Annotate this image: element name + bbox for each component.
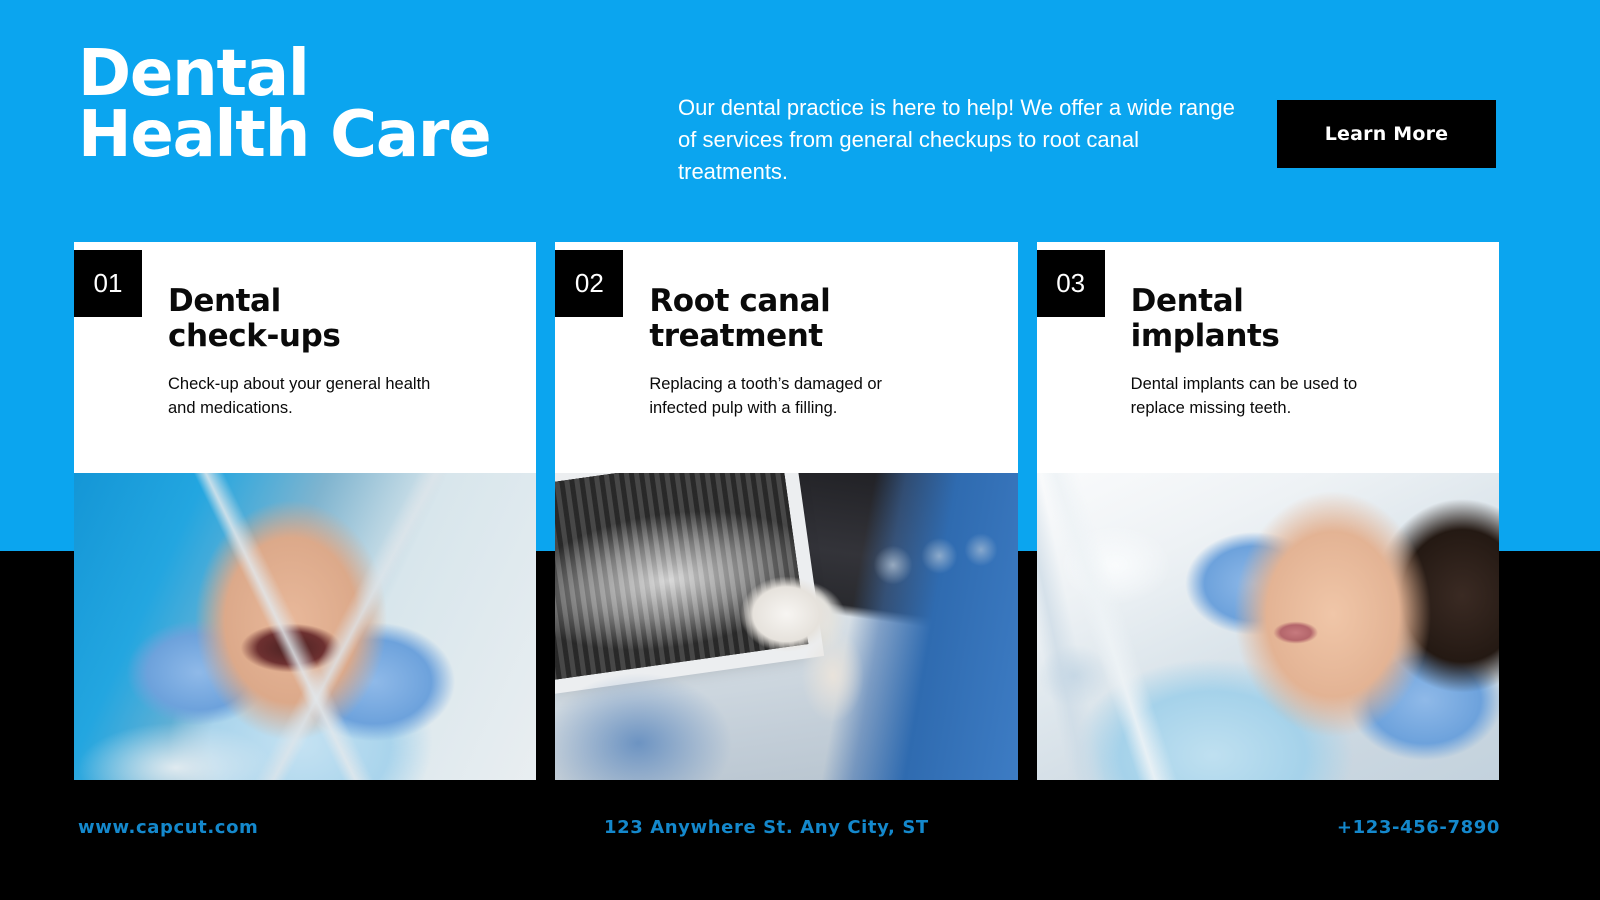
card-photo-dental-checkup — [74, 473, 536, 780]
card-heading-line-2: check-ups — [168, 319, 498, 354]
footer-website-link[interactable]: www.capcut.com — [78, 817, 258, 838]
card-number-badge: 03 — [1037, 250, 1105, 317]
learn-more-button[interactable]: Learn More — [1277, 100, 1496, 168]
card-description: Check-up about your general health and m… — [168, 373, 508, 421]
service-cards-row: 01 Dental check-ups Check-up about your … — [74, 242, 1499, 780]
service-card-dental-checkups[interactable]: 01 Dental check-ups Check-up about your … — [74, 242, 536, 780]
card-number-badge: 01 — [74, 250, 142, 317]
card-heading: Dental check-ups — [168, 284, 498, 354]
card-text-panel: 02 Root canal treatment Replacing a toot… — [555, 242, 1017, 473]
header: Dental Health Care Our dental practice i… — [0, 0, 1600, 240]
card-heading-line-1: Dental — [168, 284, 498, 319]
card-description-line-2: infected pulp with a filling. — [649, 397, 989, 421]
card-heading-line-2: treatment — [649, 319, 979, 354]
card-heading-line-1: Dental — [1131, 284, 1461, 319]
footer: www.capcut.com 123 Anywhere St. Any City… — [0, 805, 1600, 865]
card-heading: Root canal treatment — [649, 284, 979, 354]
hero-subtitle: Our dental practice is here to help! We … — [678, 92, 1238, 188]
dental-checkup-illustration — [74, 473, 536, 780]
card-text-panel: 01 Dental check-ups Check-up about your … — [74, 242, 536, 473]
page-title-line-2: Health Care — [78, 105, 698, 166]
card-description-line-1: Replacing a tooth’s damaged or — [649, 373, 989, 397]
card-heading-line-2: implants — [1131, 319, 1461, 354]
service-card-dental-implants[interactable]: 03 Dental implants Dental implants can b… — [1037, 242, 1499, 780]
page-title-line-1: Dental — [78, 44, 698, 105]
dental-xray-illustration — [555, 473, 1017, 780]
card-description-line-2: and medications. — [168, 397, 508, 421]
footer-phone[interactable]: +123-456-7890 — [1337, 817, 1500, 838]
card-description-line-2: replace missing teeth. — [1131, 397, 1471, 421]
card-heading-line-1: Root canal — [649, 284, 979, 319]
card-description: Dental implants can be used to replace m… — [1131, 373, 1471, 421]
dental-implant-illustration — [1037, 473, 1499, 780]
card-heading: Dental implants — [1131, 284, 1461, 354]
poster-canvas: Dental Health Care Our dental practice i… — [0, 0, 1600, 900]
card-photo-dental-implant — [1037, 473, 1499, 780]
service-card-root-canal[interactable]: 02 Root canal treatment Replacing a toot… — [555, 242, 1017, 780]
card-photo-dental-xray — [555, 473, 1017, 780]
card-description: Replacing a tooth’s damaged or infected … — [649, 373, 989, 421]
card-description-line-1: Check-up about your general health — [168, 373, 508, 397]
card-description-line-1: Dental implants can be used to — [1131, 373, 1471, 397]
page-title: Dental Health Care — [78, 44, 698, 166]
card-number-badge: 02 — [555, 250, 623, 317]
footer-address: 123 Anywhere St. Any City, ST — [604, 817, 929, 838]
card-text-panel: 03 Dental implants Dental implants can b… — [1037, 242, 1499, 473]
